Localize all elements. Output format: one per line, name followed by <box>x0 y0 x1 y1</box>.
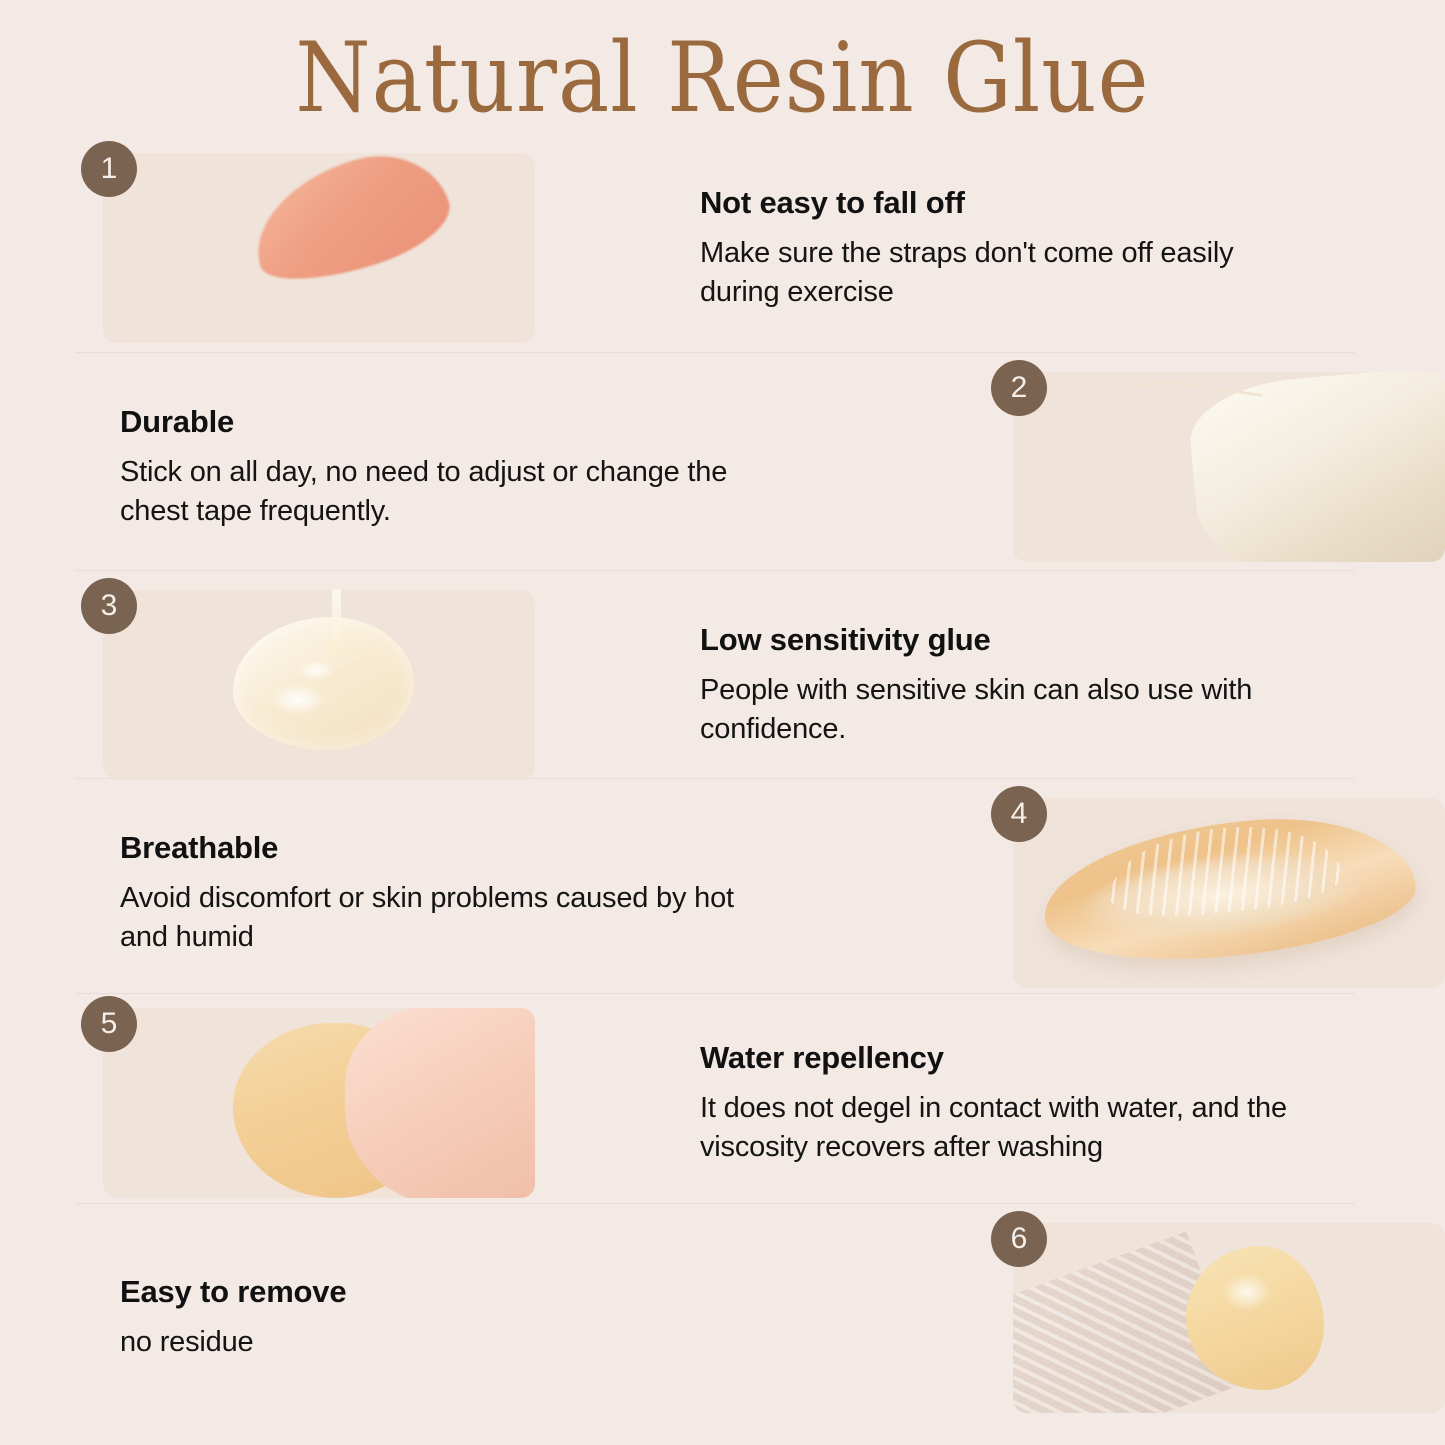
feature-row-6: Easy to remove no residue 6 <box>0 1213 1445 1423</box>
photo-woman-camisole-icon <box>1013 372 1445 562</box>
photo-hand-holding-pad-icon <box>1013 1223 1445 1413</box>
feature-description-5: It does not degel in contact with water,… <box>700 1089 1320 1166</box>
feature-image-2: 2 <box>1013 372 1445 562</box>
feature-text-3: Low sensitivity glue People with sensiti… <box>700 622 1445 748</box>
step-badge-5: 5 <box>81 996 137 1052</box>
feature-description-3: People with sensitive skin can also use … <box>700 671 1320 748</box>
feature-description-4: Avoid discomfort or skin problems caused… <box>120 879 740 956</box>
photo-finger-pressing-glue-icon <box>103 153 535 343</box>
step-badge-1: 1 <box>81 141 137 197</box>
feature-image-5: 5 <box>103 1008 535 1198</box>
feature-description-2: Stick on all day, no need to adjust or c… <box>120 453 740 530</box>
feature-title-6: Easy to remove <box>120 1274 953 1310</box>
feature-image-6: 6 <box>1013 1223 1445 1413</box>
feature-text-6: Easy to remove no residue <box>120 1274 953 1362</box>
feature-text-1: Not easy to fall off Make sure the strap… <box>700 185 1445 311</box>
feature-row-2: Durable Stick on all day, no need to adj… <box>0 362 1445 572</box>
feature-row-5: 5 Water repellency It does not degel in … <box>0 998 1445 1208</box>
feature-title-5: Water repellency <box>700 1040 1445 1076</box>
feature-image-3: 3 <box>103 590 535 780</box>
feature-row-3: 3 Low sensitivity glue People with sensi… <box>0 580 1445 790</box>
feature-text-5: Water repellency It does not degel in co… <box>700 1040 1445 1166</box>
feature-title-1: Not easy to fall off <box>700 185 1445 221</box>
feature-image-1: 1 <box>103 153 535 343</box>
photo-gel-droplet-icon <box>103 590 535 780</box>
feature-title-4: Breathable <box>120 830 953 866</box>
feature-title-2: Durable <box>120 404 953 440</box>
feature-text-4: Breathable Avoid discomfort or skin prob… <box>120 830 953 956</box>
feature-row-4: Breathable Avoid discomfort or skin prob… <box>0 788 1445 998</box>
step-badge-3: 3 <box>81 578 137 634</box>
step-badge-6: 6 <box>991 1211 1047 1267</box>
photo-washing-under-water-icon <box>103 1008 535 1198</box>
feature-description-6: no residue <box>120 1323 740 1362</box>
feature-image-4: 4 <box>1013 798 1445 988</box>
feature-description-1: Make sure the straps don't come off easi… <box>700 234 1320 311</box>
photo-silicone-petal-icon <box>1013 798 1445 988</box>
page-title: Natural Resin Glue <box>0 28 1445 129</box>
infographic-page: Natural Resin Glue 1 Not easy to fall of… <box>0 0 1445 1445</box>
feature-row-1: 1 Not easy to fall off Make sure the str… <box>0 143 1445 353</box>
feature-title-3: Low sensitivity glue <box>700 622 1445 658</box>
feature-text-2: Durable Stick on all day, no need to adj… <box>120 404 953 530</box>
step-badge-2: 2 <box>991 360 1047 416</box>
step-badge-4: 4 <box>991 786 1047 842</box>
page-title-wrap: Natural Resin Glue <box>0 28 1445 118</box>
